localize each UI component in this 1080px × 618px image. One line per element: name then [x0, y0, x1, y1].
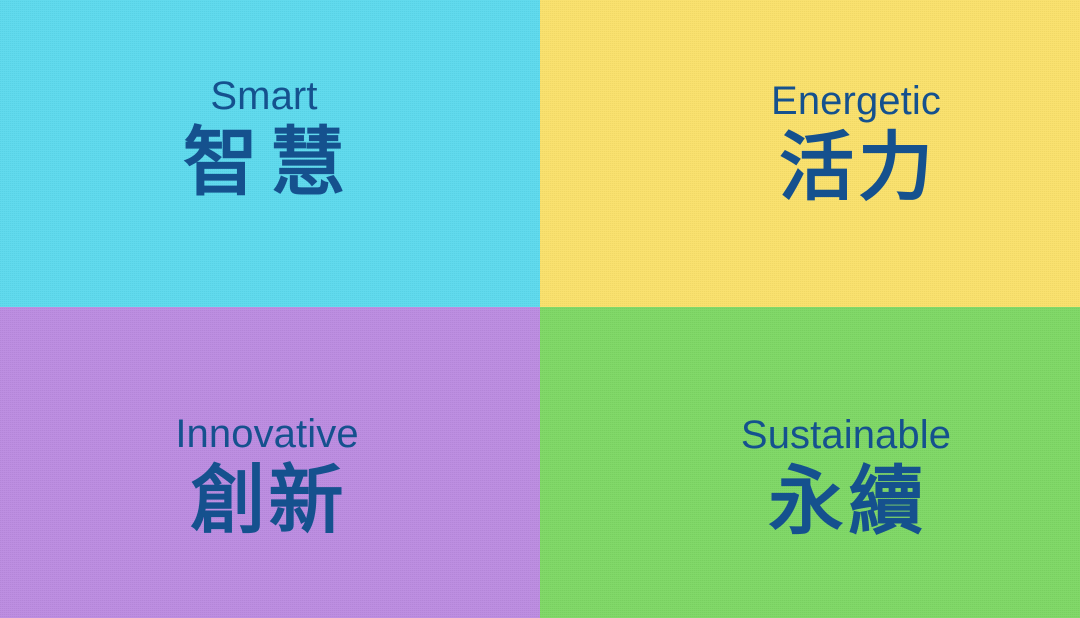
quadrant-sustainable-label-en: Sustainable	[741, 414, 951, 456]
quadrant-smart: Smart 智慧	[0, 0, 540, 307]
quadrant-energetic-label-en: Energetic	[771, 80, 941, 122]
quadrant-sustainable: Sustainable 永續	[540, 307, 1080, 618]
quadrant-smart-label-zh: 智慧	[171, 120, 357, 204]
quadrant-smart-content: Smart 智慧	[171, 75, 357, 203]
quadrant-sustainable-label-zh: 永續	[763, 459, 928, 543]
quadrant-energetic-content: Energetic 活力	[771, 80, 941, 208]
quadrant-innovative-content: Innovative 創新	[175, 413, 358, 541]
brand-values-grid: Smart 智慧 Energetic 活力 Innovative 創新 Sust…	[0, 0, 1080, 618]
quadrant-innovative: Innovative 創新	[0, 307, 540, 618]
quadrant-energetic-label-zh: 活力	[775, 125, 937, 209]
quadrant-energetic: Energetic 活力	[540, 0, 1080, 307]
quadrant-smart-label-en: Smart	[210, 75, 317, 117]
quadrant-sustainable-content: Sustainable 永續	[741, 414, 951, 542]
quadrant-innovative-label-en: Innovative	[175, 413, 358, 455]
quadrant-innovative-label-zh: 創新	[187, 458, 346, 542]
